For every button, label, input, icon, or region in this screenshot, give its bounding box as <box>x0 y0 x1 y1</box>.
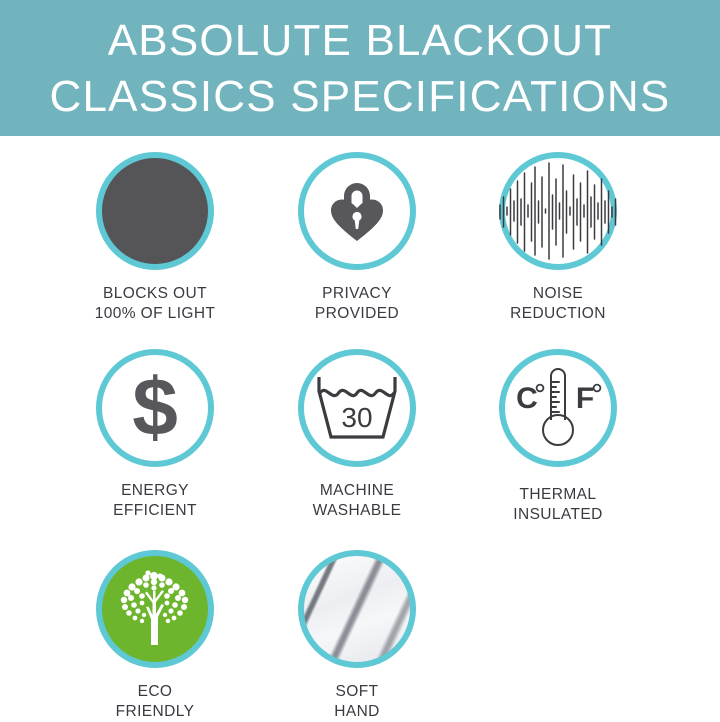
feature-label: THERMAL INSULATED <box>513 485 602 525</box>
solid-dark-circle-icon <box>96 152 214 270</box>
feature-grid: BLOCKS OUT 100% OF LIGHT PRIVACY PROVIDE… <box>0 136 720 720</box>
sound-waveform-icon <box>496 155 620 267</box>
feature-label-line-1: BLOCKS OUT <box>95 284 216 304</box>
feature-label-line-2: EFFICIENT <box>113 501 197 521</box>
feature-label-line-1: SOFT <box>334 682 380 702</box>
feature-label-line-2: 100% OF LIGHT <box>95 304 216 324</box>
badge-circle <box>96 550 214 668</box>
wash-tub-icon: 30 <box>311 369 403 447</box>
feature-label: MACHINE WASHABLE <box>313 481 402 521</box>
folded-fabric-photo-icon <box>298 550 416 668</box>
feature-label-line-1: NOISE <box>510 284 606 304</box>
feature-label-line-1: ECO <box>116 682 195 702</box>
fahrenheit-label: F <box>576 382 594 415</box>
tree-icon <box>112 567 198 651</box>
feature-label: NOISE REDUCTION <box>510 284 606 324</box>
feature-label: ECO FRIENDLY <box>116 682 195 722</box>
feature-label-line-2: INSULATED <box>513 505 602 525</box>
feature-thermal-insulated: C F THERMAL INSULATED <box>438 349 678 525</box>
badge-circle <box>298 152 416 270</box>
celsius-label: C <box>516 382 538 415</box>
feature-label-line-2: HAND <box>334 702 380 722</box>
badge-circle: 30 <box>298 349 416 467</box>
feature-label: ENERGY EFFICIENT <box>113 481 197 521</box>
svg-text:$: $ <box>132 362 178 453</box>
wash-temperature-value: 30 <box>341 402 372 433</box>
feature-label-line-2: WASHABLE <box>313 501 402 521</box>
thermometer-icon: C F <box>509 362 607 454</box>
page-header: ABSOLUTE BLACKOUT CLASSICS SPECIFICATION… <box>0 0 720 136</box>
feature-label: BLOCKS OUT 100% OF LIGHT <box>95 284 216 324</box>
badge-circle: $ <box>96 349 214 467</box>
dollar-sign-icon: $ <box>119 365 191 451</box>
feature-label-line-2: PROVIDED <box>315 304 399 324</box>
feature-noise-reduction: NOISE REDUCTION <box>438 152 678 324</box>
feature-label-line-1: PRIVACY <box>315 284 399 304</box>
page-title-line-2: CLASSICS SPECIFICATIONS <box>50 69 671 125</box>
feature-label-line-1: THERMAL <box>513 485 602 505</box>
badge-circle <box>499 152 617 270</box>
page-title-line-1: ABSOLUTE BLACKOUT <box>108 13 613 69</box>
feature-soft-hand: SOFT HAND <box>237 550 477 722</box>
heart-padlock-icon <box>317 171 397 251</box>
feature-label: SOFT HAND <box>334 682 380 722</box>
feature-label-line-1: MACHINE <box>313 481 402 501</box>
feature-label: PRIVACY PROVIDED <box>315 284 399 324</box>
feature-label-line-2: REDUCTION <box>510 304 606 324</box>
badge-circle: C F <box>499 349 617 467</box>
feature-label-line-1: ENERGY <box>113 481 197 501</box>
feature-label-line-2: FRIENDLY <box>116 702 195 722</box>
